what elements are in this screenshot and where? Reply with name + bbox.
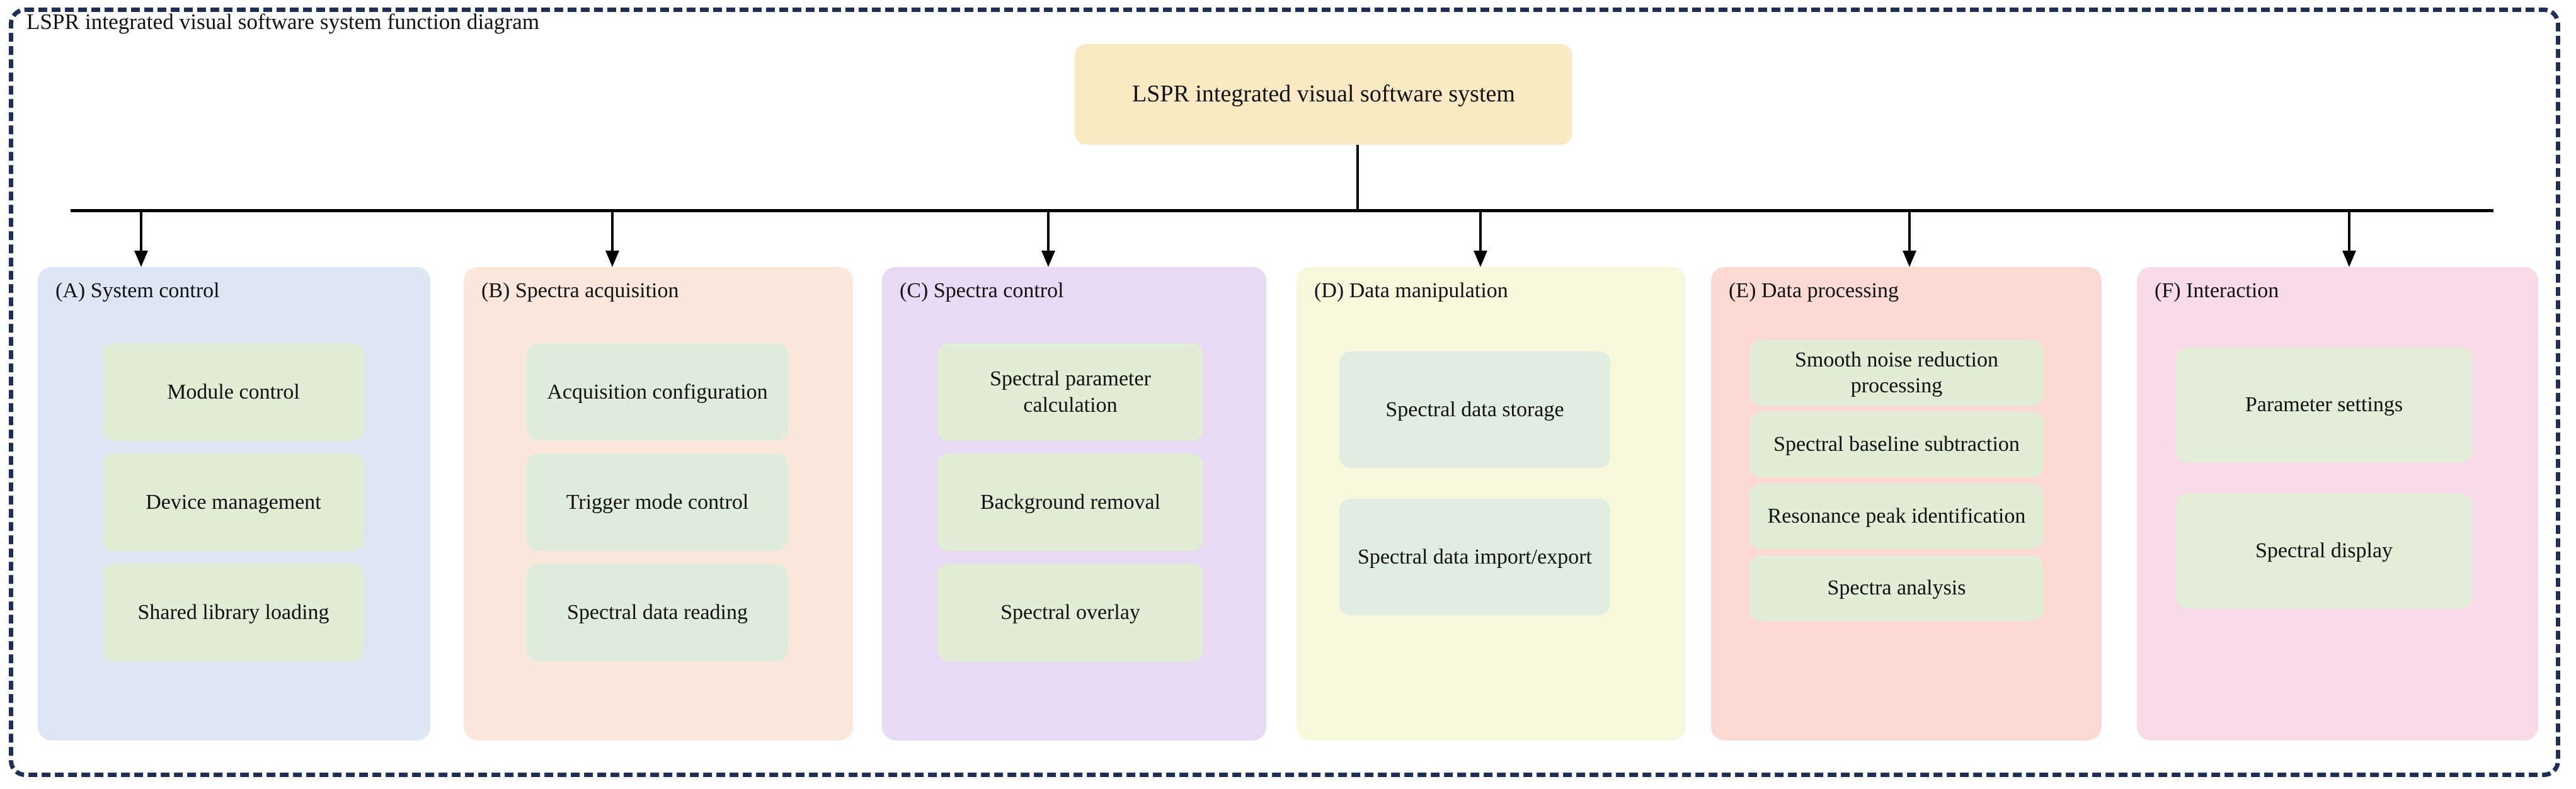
drop-connector-c (1047, 210, 1050, 253)
panel-system-control[interactable]: (A) System control Module control Device… (38, 267, 430, 741)
child-spectral-data-storage[interactable]: Spectral data storage (1339, 351, 1610, 468)
panel-title-e: (E) Data processing (1729, 278, 1899, 303)
child-spectral-baseline-subtraction[interactable]: Spectral baseline subtraction (1750, 412, 2043, 477)
root-node: LSPR integrated visual software system (1075, 44, 1572, 145)
child-smooth-noise-reduction-processing[interactable]: Smooth noise reduction processing (1750, 340, 2043, 406)
panel-data-manipulation[interactable]: (D) Data manipulation Spectral data stor… (1297, 267, 1686, 741)
child-spectra-analysis[interactable]: Spectra analysis (1750, 555, 2043, 621)
child-acquisition-configuration[interactable]: Acquisition configuration (527, 343, 788, 441)
drop-connector-f (2348, 210, 2350, 253)
child-spectral-data-import-export[interactable]: Spectral data import/export (1339, 499, 1610, 615)
drop-connector-d (1479, 210, 1482, 253)
drop-connector-e (1908, 210, 1911, 253)
panel-title-c: (C) Spectra control (900, 278, 1064, 303)
arrowhead-a (134, 251, 148, 267)
child-device-management[interactable]: Device management (103, 453, 364, 551)
arrowhead-e (1903, 251, 1916, 267)
arrowhead-c (1041, 251, 1055, 267)
diagram-canvas: LSPR integrated visual software system f… (0, 0, 2576, 789)
root-stem-connector (1356, 145, 1359, 210)
panel-spectra-acquisition[interactable]: (B) Spectra acquisition Acquisition conf… (464, 267, 853, 741)
panel-spectra-control[interactable]: (C) Spectra control Spectral parameter c… (882, 267, 1266, 741)
panel-title-a: (A) System control (55, 278, 220, 303)
child-parameter-settings[interactable]: Parameter settings (2176, 348, 2472, 462)
child-shared-library-loading[interactable]: Shared library loading (103, 564, 364, 661)
panel-title-d: (D) Data manipulation (1314, 278, 1508, 303)
drop-connector-a (140, 210, 142, 253)
panel-title-f: (F) Interaction (2155, 278, 2279, 303)
arrowhead-f (2342, 251, 2356, 267)
drop-connector-b (611, 210, 614, 253)
child-spectral-parameter-calculation[interactable]: Spectral parameter calculation (937, 343, 1203, 441)
child-resonance-peak-identification[interactable]: Resonance peak identification (1750, 484, 2043, 549)
child-spectral-overlay[interactable]: Spectral overlay (937, 564, 1203, 661)
child-trigger-mode-control[interactable]: Trigger mode control (527, 453, 788, 551)
child-spectral-display[interactable]: Spectral display (2176, 494, 2472, 608)
root-node-label: LSPR integrated visual software system (1132, 81, 1515, 108)
child-spectral-data-reading[interactable]: Spectral data reading (527, 564, 788, 661)
arrowhead-b (605, 251, 619, 267)
panel-title-b: (B) Spectra acquisition (481, 278, 678, 303)
child-background-removal[interactable]: Background removal (937, 453, 1203, 551)
horizontal-bus-connector (71, 209, 2493, 212)
panel-data-processing[interactable]: (E) Data processing Smooth noise reducti… (1711, 267, 2102, 741)
arrowhead-d (1474, 251, 1487, 267)
child-module-control[interactable]: Module control (103, 343, 364, 441)
panel-interaction[interactable]: (F) Interaction Parameter settings Spect… (2137, 267, 2538, 741)
diagram-caption: LSPR integrated visual software system f… (26, 10, 539, 35)
